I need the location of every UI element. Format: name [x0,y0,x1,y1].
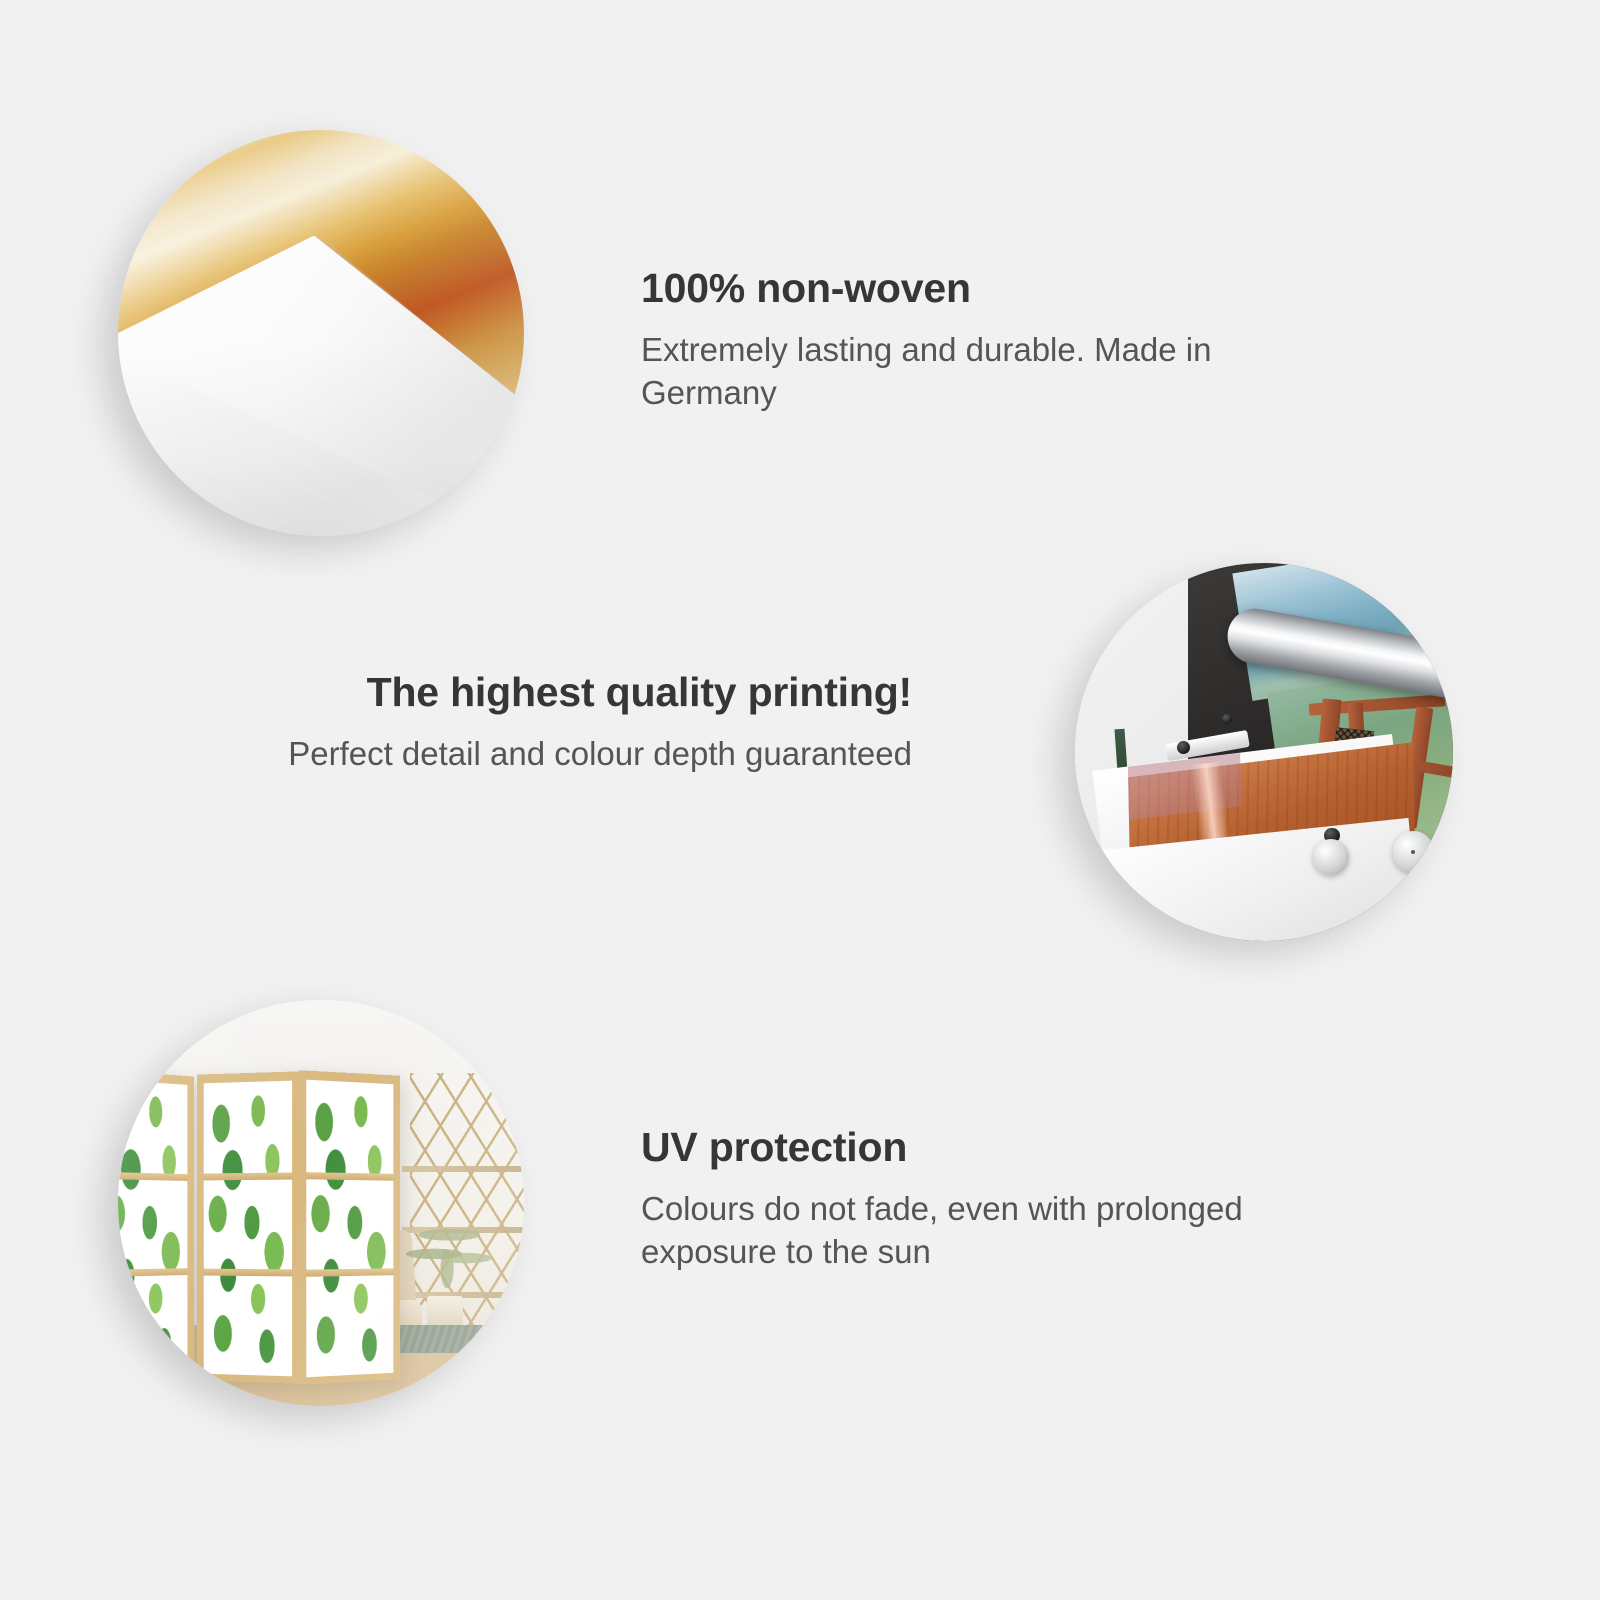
machine-knob [1177,741,1190,754]
printing-machine-photo [1075,563,1453,941]
feature-text-non-woven: 100% non-woven Extremely lasting and dur… [641,268,1321,415]
feature-title-non-woven: 100% non-woven [641,268,1321,309]
feature-text-printing: The highest quality printing! Perfect de… [232,672,912,776]
room-divider-photo [118,1000,524,1406]
divider-panel [197,1071,299,1383]
wallpaper-peel-image [118,130,524,536]
feature-description-uv-protection: Colours do not fade, even with prolonged… [641,1188,1281,1274]
feature-description-printing: Perfect detail and colour depth guarante… [232,733,912,776]
potted-palm-plant [394,1203,500,1309]
feature-description-non-woven: Extremely lasting and durable. Made in G… [641,329,1321,415]
feature-title-uv-protection: UV protection [641,1127,1281,1168]
lattice-shelf [402,1166,524,1172]
feature-title-printing: The highest quality printing! [232,672,912,713]
room-divider-image [118,1000,524,1406]
feature-text-uv-protection: UV protection Colours do not fade, even … [641,1127,1281,1274]
divider-panel [300,1070,401,1384]
infographic-canvas: 100% non-woven Extremely lasting and dur… [0,0,1600,1600]
printing-machine-image [1075,563,1453,941]
wallpaper-bottom-shadow [118,341,524,536]
tropical-room-divider [118,1073,402,1382]
machine-roller-wheel [1393,831,1435,873]
wallpaper-peel-photo [118,130,524,536]
machine-roller-wheel [1313,839,1349,875]
divider-panel [118,1069,193,1385]
